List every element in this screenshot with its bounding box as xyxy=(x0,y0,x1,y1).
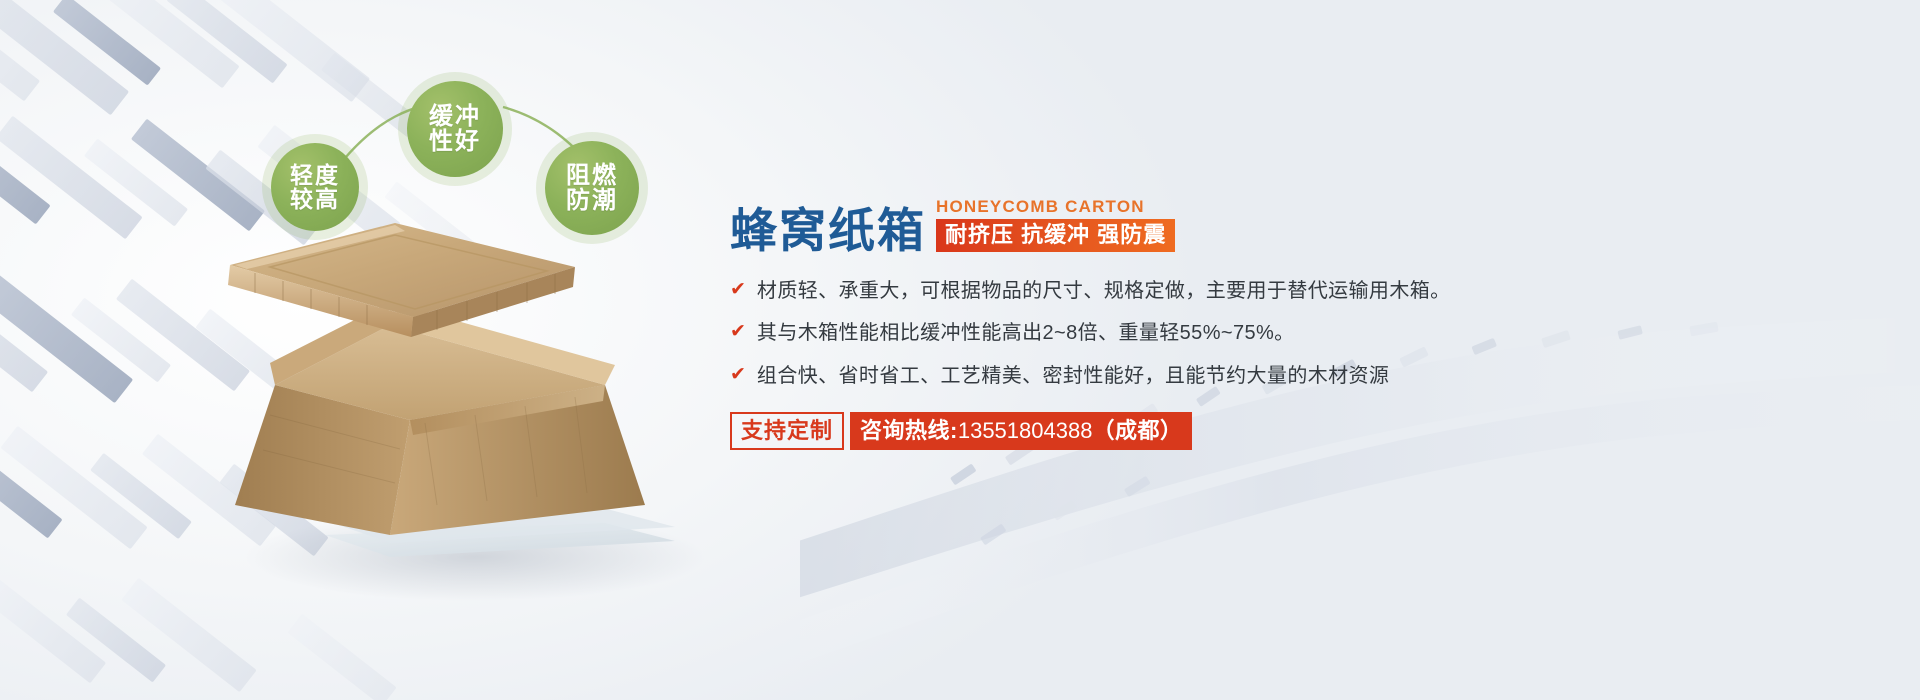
feature-circle-cushioning: 缓冲性好 xyxy=(407,81,503,177)
banner-content: 蜂窝纸箱 HONEYCOMB CARTON 耐挤压 抗缓冲 强防震 ✔ 材质轻、… xyxy=(730,196,1860,496)
heading-sublines: HONEYCOMB CARTON 耐挤压 抗缓冲 强防震 xyxy=(936,198,1175,254)
custom-order-badge: 支持定制 xyxy=(730,412,844,450)
product-banner: 轻度较高 缓冲性好 阻燃防潮 蜂窝纸箱 HONEYCOMB CARTON 耐挤压… xyxy=(0,0,1920,700)
contact-bar: 支持定制 咨询热线:13551804388（成都） xyxy=(730,412,1192,450)
check-icon: ✔ xyxy=(730,320,746,345)
list-item-text: 组合快、省时省工、工艺精美、密封性能好，且能节约大量的木材资源 xyxy=(757,363,1389,389)
feature-circle-group: 轻度较高 缓冲性好 阻燃防潮 xyxy=(255,45,685,235)
check-icon: ✔ xyxy=(730,278,746,303)
english-subtitle: HONEYCOMB CARTON xyxy=(936,198,1175,215)
list-item: ✔ 材质轻、承重大，可根据物品的尺寸、规格定做，主要用于替代运输用木箱。 xyxy=(730,278,1860,304)
feature-circle-label: 轻度较高 xyxy=(290,163,340,212)
hotline-city: （成都） xyxy=(1092,418,1182,443)
page-title: 蜂窝纸箱 xyxy=(730,207,926,254)
list-item-text: 材质轻、承重大，可根据物品的尺寸、规格定做，主要用于替代运输用木箱。 xyxy=(757,278,1451,304)
list-item: ✔ 组合快、省时省工、工艺精美、密封性能好，且能节约大量的木材资源 xyxy=(730,363,1860,389)
feature-badge: 耐挤压 抗缓冲 强防震 xyxy=(936,219,1175,252)
heading-row: 蜂窝纸箱 HONEYCOMB CARTON 耐挤压 抗缓冲 强防震 xyxy=(730,196,1860,254)
feature-circle-light-weight: 轻度较高 xyxy=(271,143,359,231)
feature-circle-flame-moisture: 阻燃防潮 xyxy=(545,141,639,235)
feature-circle-label: 缓冲性好 xyxy=(429,104,481,155)
hotline-label: 咨询热线: xyxy=(860,418,958,443)
list-item: ✔ 其与木箱性能相比缓冲性能高出2~8倍、重量轻55%~75%。 xyxy=(730,320,1860,346)
check-icon: ✔ xyxy=(730,363,746,388)
hotline-badge[interactable]: 咨询热线:13551804388（成都） xyxy=(850,412,1192,450)
feature-bullet-list: ✔ 材质轻、承重大，可根据物品的尺寸、规格定做，主要用于替代运输用木箱。 ✔ 其… xyxy=(730,278,1860,389)
hotline-number: 13551804388 xyxy=(958,418,1093,443)
product-image-honeycomb-carton xyxy=(175,205,735,605)
list-item-text: 其与木箱性能相比缓冲性能高出2~8倍、重量轻55%~75%。 xyxy=(757,320,1295,346)
feature-circle-label: 阻燃防潮 xyxy=(566,163,618,214)
